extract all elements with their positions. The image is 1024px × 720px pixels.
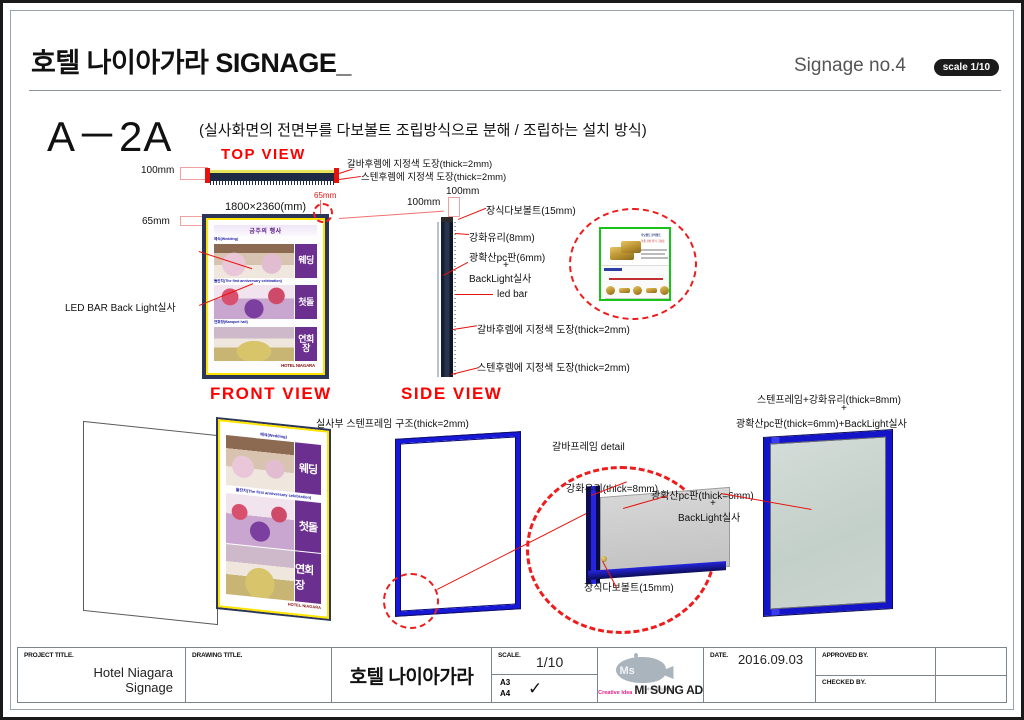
drawing-sheet: 호텔 나이아가라 SIGNAGE_ Signage no.4 scale 1/1…	[0, 0, 1024, 720]
detail-circle-frame-corner	[383, 573, 439, 629]
whale-icon: Ms	[608, 653, 694, 687]
callout-right-line3: 광확산pc판(thick=6mm)+BackLight실사	[736, 415, 907, 430]
text-placeholder-line	[609, 278, 663, 280]
brass-bolt-icon	[606, 286, 615, 295]
poster-tab-label: 웨딩	[298, 256, 314, 265]
dim-front-65-top: 65mm	[314, 191, 336, 200]
text-placeholder-line	[641, 253, 665, 255]
project-title-caption: PROJECT TITLE.	[24, 652, 74, 659]
top-view-label: TOP VIEW	[221, 146, 306, 163]
callout-detail-pc-2: BackLight실사	[678, 509, 740, 524]
text-placeholder-line	[605, 298, 669, 300]
date-caption: DATE.	[710, 652, 728, 659]
leader-line	[455, 294, 493, 295]
title-block-project: PROJECT TITLE. Hotel Niagara Signage	[18, 648, 186, 702]
iso-front-panel: 예식(Wedding) 웨딩 돌잔치(The first anniversary…	[216, 417, 331, 621]
drawing-title-caption: DRAWING TITLE.	[192, 652, 242, 659]
dim-box-side	[448, 197, 460, 217]
dim-front-65-left: 65mm	[142, 216, 170, 227]
dim-top-100mm: 100mm	[141, 165, 174, 176]
iso-poster-row: 연회장	[226, 544, 321, 604]
company-logo: Ms 세상을 바꾸는 작은 생각 Creative Idea MI SUNG A…	[598, 653, 703, 697]
logo-mark-text: Ms	[620, 665, 635, 677]
approved-by-caption: APPROVED BY.	[822, 652, 868, 659]
title-block-scale: SCALE. 1/10 A3 A4 ✓	[492, 648, 598, 702]
brass-bolt-icon	[660, 286, 669, 295]
poster-tab-dol: 첫돌	[295, 285, 317, 319]
iso-photo-wedding	[226, 435, 294, 492]
callout-detail-bolt: 장식다보볼트(15mm)	[584, 579, 674, 594]
project-title-value: Hotel Niagara Signage	[94, 666, 174, 696]
poster-artwork: 금주의 행사 예식(Wedding) 웨딩 돌잔치(The first anni…	[210, 222, 321, 371]
brass-bolt-icon	[619, 288, 630, 293]
callout-side-sten: 스텐후렘에 지정색 도장(thick=2mm)	[477, 359, 630, 374]
scale-badge: scale 1/10	[934, 59, 999, 76]
dim-side-100-b: 100mm	[446, 186, 479, 197]
callout-top-sten: 스텐후렘에 지정색 도장(thick=2mm)	[361, 169, 506, 183]
poster-photo-dol	[214, 285, 294, 319]
brass-bolt-icon	[621, 241, 641, 253]
logo-creative-text: Creative Idea	[598, 690, 632, 696]
callout-side-galva: 갈바후렘에 지정색 도장(thick=2mm)	[477, 321, 630, 336]
side-view-label: SIDE VIEW	[401, 384, 502, 404]
callout-side-led-bar: led bar	[497, 289, 528, 300]
tab-marker	[604, 268, 622, 271]
brass-bolt-icon	[646, 288, 657, 293]
poster-tab-label: 첫돌	[298, 298, 314, 307]
scale-value: 1/10	[536, 654, 563, 670]
poster-tab-wedding: 웨딩	[295, 244, 317, 278]
section-code: A－2A	[47, 103, 172, 164]
right-glass-panel-frame	[763, 429, 893, 617]
dim-side-100-a: 100mm	[407, 197, 440, 208]
scale-caption: SCALE.	[498, 652, 521, 659]
title-block-date: DATE. 2016.09.03	[704, 648, 816, 702]
checked-by-caption: CHECKED BY.	[822, 679, 866, 686]
drawing-title-value: 호텔 나이아가라	[350, 662, 474, 689]
poster-row: 연회장	[214, 327, 317, 361]
poster-row-sub: 예식(Wedding)	[214, 238, 317, 242]
bolt-photo-bottom	[601, 265, 669, 299]
front-view-label: FRONT VIEW	[210, 384, 332, 404]
front-view-yellow-border: 금주의 행사 예식(Wedding) 웨딩 돌잔치(The first anni…	[206, 218, 325, 375]
side-view-bar	[441, 222, 453, 377]
poster-row-sub: 연회장(Banquet hall)	[214, 321, 317, 325]
iso-yellow-border: 예식(Wedding) 웨딩 돌잔치(The first anniversary…	[218, 419, 329, 619]
side-view-edge	[437, 222, 439, 377]
top-view-cap-right	[334, 168, 339, 183]
top-view-bar	[208, 170, 336, 181]
callout-right-line2: +	[841, 403, 847, 414]
scale-divider	[492, 674, 597, 675]
text-placeholder-line	[641, 249, 667, 251]
right-glass-surface	[770, 436, 886, 609]
approval-divider	[816, 675, 935, 676]
title-block-approval: APPROVED BY. CHECKED BY.	[816, 648, 936, 702]
poster-photo-banquet	[214, 327, 294, 361]
callout-side-pc-2: BackLight실사	[469, 270, 531, 285]
section-description: (실사화면의 전면부를 다보볼트 조립방식으로 분해 / 조립하는 설치 방식)	[199, 119, 647, 140]
iso-poster-row: 첫돌	[226, 493, 321, 553]
page-title: 호텔 나이아가라 SIGNAGE_	[31, 41, 351, 80]
bolt-product-photo: 다보볼트 장식볼트 각종 간판 유리 고정용	[599, 227, 671, 301]
project-title-line1: Hotel Niagara	[94, 666, 174, 681]
callout-led-bar-back: LED BAR Back Light실사	[65, 299, 176, 314]
callout-side-dabo-bolt: 장식다보볼트(15mm)	[486, 202, 576, 217]
signature-divider	[936, 675, 1006, 676]
side-view-tick-strip	[454, 222, 456, 377]
poster-row: 첫돌	[214, 285, 317, 319]
title-block-logo: Ms 세상을 바꾸는 작은 생각 Creative Idea MI SUNG A…	[598, 648, 704, 702]
title-block-drawing-title: 호텔 나이아가라	[332, 648, 492, 702]
iso-poster-row: 웨딩	[226, 435, 321, 495]
bolt-sub: 각종 간판 유리 고정용	[641, 240, 665, 244]
iso-poster: 예식(Wedding) 웨딩 돌잔치(The first anniversary…	[224, 426, 323, 612]
callout-right-line1: 스텐프레임+강화유리(thick=8mm)	[757, 391, 901, 406]
callout-top-galva: 갈바후렘에 지정색 도장(thick=2mm)	[347, 156, 492, 170]
dim-box-top	[180, 167, 208, 180]
callout-side-glass: 강화유리(8mm)	[469, 229, 535, 244]
iso-tab-wedding: 웨딩	[295, 442, 321, 495]
title-block-drawing-caption-cell: DRAWING TITLE.	[186, 648, 332, 702]
poster-row-sub: 돌잔치(The first anniversary celebration)	[214, 280, 317, 284]
poster-tab-label: 연회장	[295, 335, 317, 353]
iso-back-panel	[83, 421, 218, 625]
poster-tab-banquet: 연회장	[295, 327, 317, 361]
detail-circle-front-corner	[313, 203, 333, 223]
paper-size-a4: A4	[500, 689, 510, 698]
top-view-cap-left	[205, 168, 210, 183]
project-title-line2: Signage	[94, 681, 174, 696]
poster-heading: 금주의 행사	[214, 225, 317, 236]
brass-bolt-icon	[633, 286, 642, 295]
dim-box-front-left	[180, 216, 204, 226]
iso-photo-dol	[226, 493, 294, 550]
iso-photo-banquet	[226, 544, 294, 601]
callout-galva-frame-detail: 갈바프레임 detail	[552, 438, 625, 453]
signage-number: Signage no.4	[794, 55, 906, 77]
dim-front-size: 1800×2360(mm)	[225, 201, 306, 213]
text-placeholder-line	[641, 257, 668, 259]
header-divider	[29, 90, 1001, 91]
paper-size-a3: A3	[500, 678, 510, 687]
bolt-headline: 다보볼트 장식볼트	[641, 234, 661, 238]
callout-iso-sten-frame: 실사부 스텐프레임 구조(thick=2mm)	[316, 415, 469, 430]
bolt-photo-top: 다보볼트 장식볼트 각종 간판 유리 고정용	[601, 229, 669, 265]
date-value: 2016.09.03	[738, 652, 803, 667]
paper-size-checkmark: ✓	[528, 680, 542, 697]
title-block: PROJECT TITLE. Hotel Niagara Signage DRA…	[17, 647, 1007, 703]
poster-footer: HOTEL NIAGARA	[214, 363, 317, 368]
title-block-signature	[936, 648, 1006, 702]
iso-tab-dol: 첫돌	[295, 500, 321, 553]
callout-detail-pc-plus: +	[710, 498, 716, 509]
iso-tab-banquet: 연회장	[295, 551, 321, 604]
